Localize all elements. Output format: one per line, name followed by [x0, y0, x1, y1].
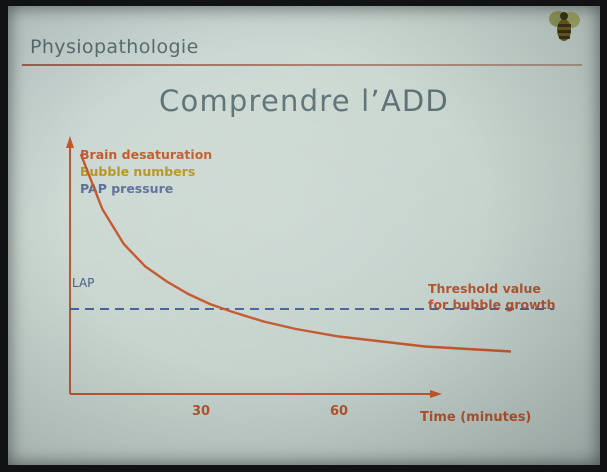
presentation-slide: Physiopathologie Comprendre l’ADD Brain …: [8, 6, 600, 465]
slide-heading: Comprendre l’ADD: [8, 84, 600, 118]
threshold-label-line1: Threshold value: [428, 281, 541, 296]
x-tick-label-60: 60: [330, 404, 348, 419]
projection-screen: Physiopathologie Comprendre l’ADD Brain …: [0, 0, 607, 472]
room-edge-left: [0, 0, 8, 472]
x-tick-label-30: 30: [192, 404, 210, 419]
x-axis-arrow: [430, 390, 442, 398]
page-title: Physiopathologie: [30, 36, 199, 58]
header-divider: [22, 64, 582, 66]
room-edge-right: [600, 0, 607, 472]
x-axis-label: Time (minutes): [420, 410, 531, 425]
lap-label: LAP: [72, 276, 94, 290]
threshold-label-line2: for bubble growth: [428, 297, 556, 312]
y-axis-arrow: [66, 136, 74, 148]
decay-curve: [81, 154, 511, 352]
bee-logo: [544, 8, 586, 48]
room-edge-bottom: [0, 465, 607, 472]
room-edge-top: [0, 0, 607, 6]
